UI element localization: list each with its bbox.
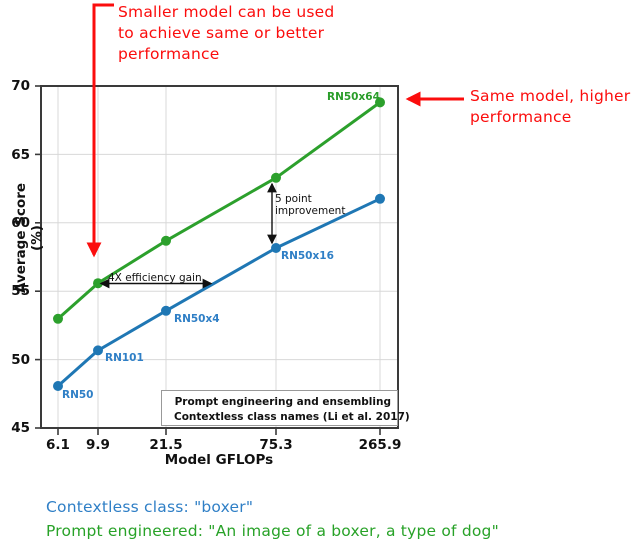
legend-item-prompt-engineering: Prompt engineering and ensembling (168, 394, 391, 409)
point-label-rn50x16: RN50x16 (281, 250, 334, 262)
x-axis-title: Model GFLOPs (139, 452, 299, 468)
annotation-same-model: Same model, higher performance (470, 86, 640, 128)
caption-contextless-class: Contextless class: "boxer" (46, 495, 253, 519)
point-label-rn50x64: RN50x64 (327, 91, 380, 103)
point-label-rn50: RN50 (62, 389, 94, 401)
point-label-rn101: RN101 (105, 352, 144, 364)
legend-item-contextless: Contextless class names (Li et al. 2017) (168, 409, 391, 424)
annotation-smaller-model: Smaller model can be used to achieve sam… (118, 2, 418, 65)
y-tick-70: 70 (0, 78, 30, 94)
legend-swatch-green (168, 396, 169, 408)
caption-prompt-engineered: Prompt engineered: "An image of a boxer,… (46, 519, 499, 543)
annotation-five-point-improvement: 5 point improvement (275, 193, 345, 217)
plot-canvas (0, 0, 640, 546)
y-axis-title: Average Score (%) (13, 168, 45, 308)
x-ticks (58, 428, 380, 435)
point-label-rn50x4: RN50x4 (174, 313, 220, 325)
x-tick-75-3: 75.3 (246, 437, 306, 453)
y-tick-50: 50 (0, 352, 30, 368)
legend-label-contextless: Contextless class names (Li et al. 2017) (174, 411, 410, 423)
annotation-four-x-efficiency-gain: 4X efficiency gain (108, 272, 202, 284)
y-tick-45: 45 (0, 420, 30, 436)
x-tick-21-5: 21.5 (136, 437, 196, 453)
chart-figure: 70 65 60 55 50 45 6.1 9.9 21.5 75.3 265.… (0, 0, 640, 546)
x-tick-265-9: 265.9 (350, 437, 410, 453)
legend-label-prompt-engineering: Prompt engineering and ensembling (175, 396, 391, 408)
x-tick-9-9: 9.9 (68, 437, 128, 453)
chart-legend: Prompt engineering and ensembling Contex… (161, 390, 398, 426)
y-tick-65: 65 (0, 147, 30, 163)
